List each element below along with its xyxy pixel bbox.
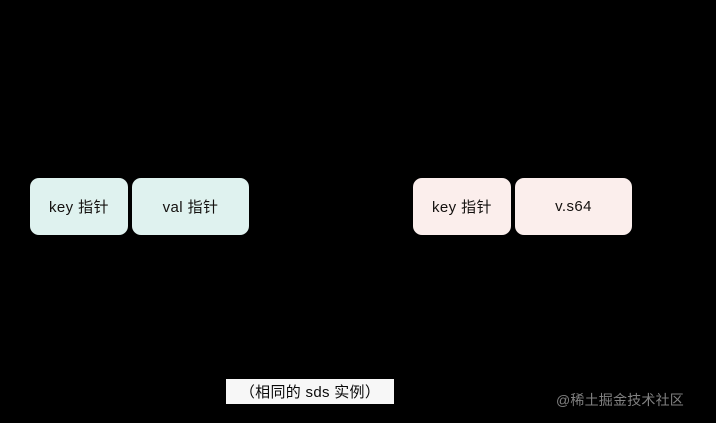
cell-val-embedded: v.s64	[515, 178, 632, 235]
dict-entry-embedded: key 指针 v.s64	[413, 178, 632, 235]
watermark: @稀土掘金技术社区	[556, 391, 702, 409]
diagram-canvas: key 指针 val 指针 key 指针 v.s64 （相同的 sds 实例） …	[0, 0, 716, 423]
cell-key-pointer-embedded: key 指针	[413, 178, 511, 235]
cell-val-pointer-shared: val 指针	[132, 178, 249, 235]
dict-entry-shared: key 指针 val 指针	[30, 178, 249, 235]
cell-key-pointer-shared: key 指针	[30, 178, 128, 235]
shared-sds-caption: （相同的 sds 实例）	[226, 379, 394, 404]
